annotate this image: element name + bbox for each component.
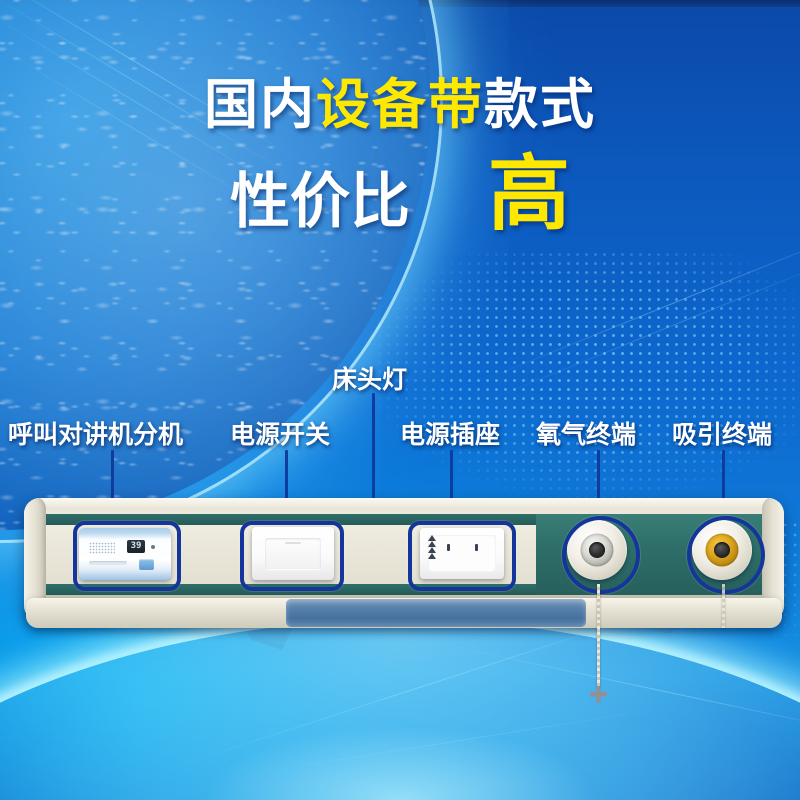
highlight-marker-power-socket	[408, 521, 516, 591]
bedside-lamp-diffuser[interactable]	[286, 599, 586, 627]
promo-banner: 国内设备带款式 性价比高 呼叫对讲机分机 电源开关 床头灯 电源插座 氧气终端 …	[0, 0, 800, 800]
callout-label-power-socket: 电源插座	[400, 415, 500, 451]
highlight-marker-suction-terminal	[687, 516, 765, 594]
callout-label-oxygen-terminal: 氧气终端	[536, 415, 636, 451]
suction-pull-cord[interactable]	[722, 584, 725, 628]
callout-label-nurse-call-intercom: 呼叫对讲机分机	[8, 415, 183, 451]
oxygen-pull-cord[interactable]	[597, 584, 600, 690]
callout-label-suction-terminal: 吸引终端	[672, 415, 772, 451]
panel-top-edge	[24, 498, 784, 510]
highlight-marker-intercom	[73, 521, 181, 591]
highlight-marker-oxygen-terminal	[562, 516, 640, 594]
callout-label-power-switch: 电源开关	[230, 415, 330, 451]
highlight-marker-power-switch	[240, 521, 344, 591]
callout-label-bedside-lamp: 床头灯	[332, 360, 407, 396]
callout-labels: 呼叫对讲机分机 电源开关 床头灯 电源插座 氧气终端 吸引终端	[0, 0, 800, 800]
